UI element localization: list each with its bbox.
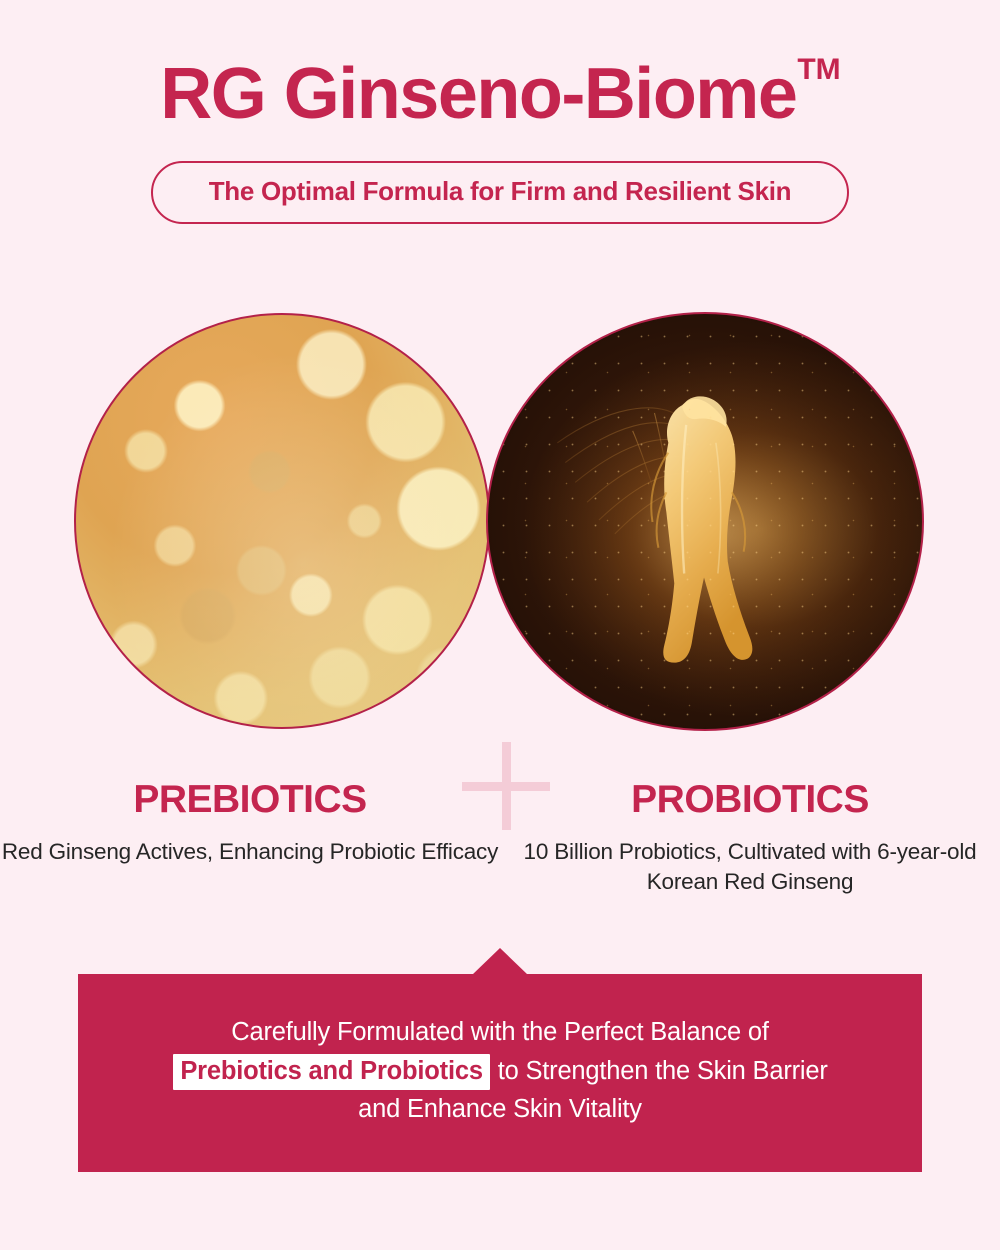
prebiotics-description: Red Ginseng Actives, Enhancing Probiotic… xyxy=(0,837,500,867)
banner-notch-triangle xyxy=(472,948,528,975)
probiotics-ginseng-image xyxy=(486,312,924,731)
column-probiotics: PROBIOTICS 10 Billion Probiotics, Cultiv… xyxy=(500,780,1000,896)
banner-text: Carefully Formulated with the Perfect Ba… xyxy=(172,1013,827,1133)
bubbles-shine-overlay xyxy=(76,315,488,727)
brand-name: RG Ginseno-Biome xyxy=(160,54,796,134)
banner-line-1: Carefully Formulated with the Perfect Ba… xyxy=(231,1018,769,1046)
ingredient-images xyxy=(0,312,1000,732)
probiotics-description: 10 Billion Probiotics, Cultivated with 6… xyxy=(500,837,1000,896)
ginseng-sparkle-overlay xyxy=(488,314,922,729)
prebiotics-heading: PREBIOTICS xyxy=(0,780,500,819)
banner-line-3: and Enhance Skin Vitality xyxy=(358,1095,642,1123)
column-prebiotics: PREBIOTICS Red Ginseng Actives, Enhancin… xyxy=(0,780,500,896)
trademark-symbol: TM xyxy=(797,53,840,86)
summary-banner: Carefully Formulated with the Perfect Ba… xyxy=(78,948,922,1172)
banner-line-2-rest: to Strengthen the Skin Barrier xyxy=(491,1057,828,1085)
page-title: RG Ginseno-BiomeTM xyxy=(0,0,1000,130)
banner-highlight: Prebiotics and Probiotics xyxy=(173,1054,489,1090)
ingredient-columns: PREBIOTICS Red Ginseng Actives, Enhancin… xyxy=(0,780,1000,896)
subtitle-pill: The Optimal Formula for Firm and Resilie… xyxy=(151,161,850,224)
probiotics-heading: PROBIOTICS xyxy=(500,780,1000,819)
banner-body: Carefully Formulated with the Perfect Ba… xyxy=(78,974,922,1172)
prebiotics-bubbles-image xyxy=(74,313,490,729)
header: RG Ginseno-BiomeTM The Optimal Formula f… xyxy=(0,0,1000,224)
